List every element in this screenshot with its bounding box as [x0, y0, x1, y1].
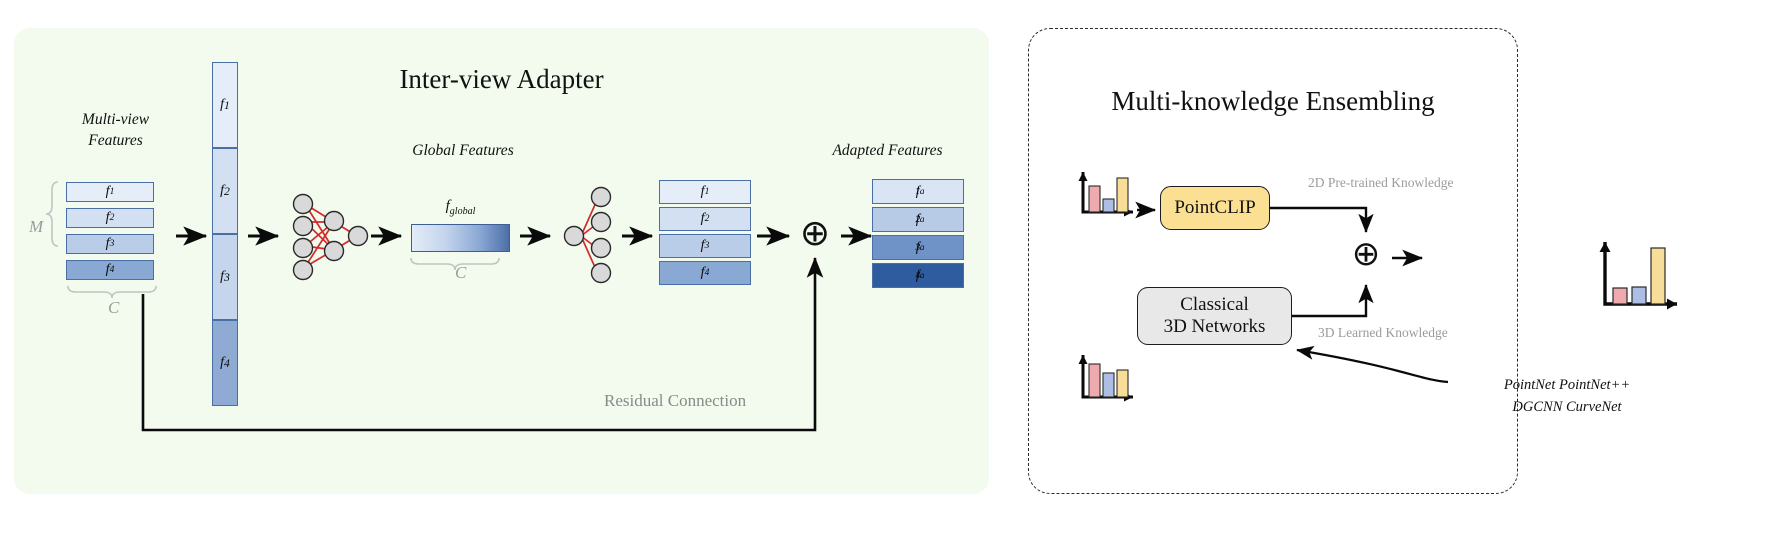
adapted-feature-3: fa3 — [872, 235, 964, 260]
concat-cell-1: f1 — [212, 62, 238, 148]
multi-view-feature-2: f2 — [66, 208, 154, 228]
multi-knowledge-ensembling-title: Multi-knowledge Ensembling — [1028, 86, 1518, 117]
dimension-c-input-label: C — [108, 298, 119, 318]
concat-cell-2: f2 — [212, 148, 238, 234]
global-features-label: Global Features — [378, 141, 548, 162]
adapted-feature-2: fa2 — [872, 207, 964, 232]
networks-line-2: DGCNN CurveNet — [1512, 399, 1621, 415]
classical-3d-line1: Classical — [1180, 294, 1249, 316]
ensembled-output-histogram — [1600, 242, 1678, 310]
global-feature-vector — [411, 224, 510, 252]
f-global-label: fglobal — [411, 196, 510, 219]
residual-connection-label: Residual Connection — [604, 391, 746, 411]
multi-view-feature-1: f1 — [66, 182, 154, 202]
decoded-feature-4: f4 — [659, 261, 751, 285]
decoded-feature-1: f1 — [659, 180, 751, 204]
adapted-features-label: Adapted Features — [800, 141, 975, 162]
multi-view-feature-3: f3 — [66, 234, 154, 254]
classical-3d-line2: 3D Networks — [1164, 316, 1266, 338]
classical-3d-networks-box[interactable]: Classical 3D Networks — [1137, 287, 1292, 345]
concat-cell-3: f3 — [212, 234, 238, 320]
adapted-feature-4: fa4 — [872, 263, 964, 288]
dimension-c-global-label: C — [455, 263, 466, 283]
2d-pretrained-knowledge-label: 2D Pre-trained Knowledge — [1308, 175, 1453, 191]
adapted-feature-1: fa1 — [872, 179, 964, 204]
multi-view-features-label: Multi-view Features — [38, 110, 193, 152]
decoded-feature-3: f3 — [659, 234, 751, 258]
classical-networks-list: PointNet PointNet++ DGCNN CurveNet — [1437, 375, 1697, 419]
ensemble-sum-icon: ⊕ — [1348, 238, 1384, 272]
3d-learned-knowledge-label: 3D Learned Knowledge — [1318, 325, 1448, 341]
concat-cell-4: f4 — [212, 320, 238, 406]
dimension-m-label: M — [29, 217, 43, 237]
residual-sum-icon: ⊕ — [798, 216, 832, 250]
inter-view-adapter-title: Inter-view Adapter — [0, 64, 1003, 95]
decoded-feature-2: f2 — [659, 207, 751, 231]
multi-view-feature-4: f4 — [66, 260, 154, 280]
pointclip-box[interactable]: PointCLIP — [1160, 186, 1270, 230]
diagram-root: Inter-view Adapter Multi-view Features G… — [0, 0, 1766, 550]
inter-view-adapter-panel — [14, 28, 989, 494]
networks-line-1: PointNet PointNet++ — [1504, 377, 1630, 393]
